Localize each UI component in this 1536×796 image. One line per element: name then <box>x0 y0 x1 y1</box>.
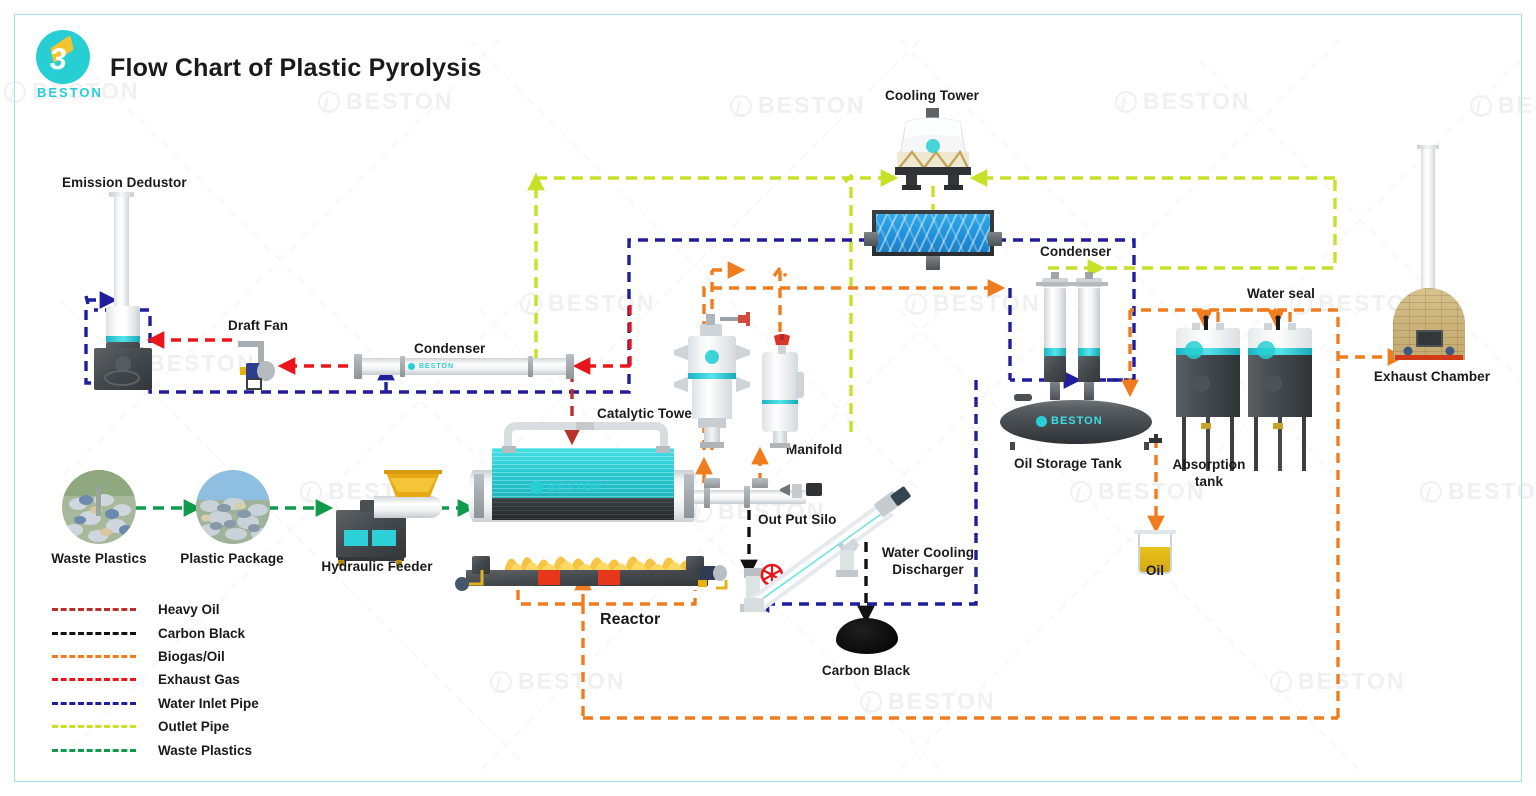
label-exhaust-chamber: Exhaust Chamber <box>1374 369 1490 384</box>
label-condenser-left: Condenser <box>414 341 485 356</box>
legend-item: Outlet Pipe <box>52 715 259 738</box>
condenser-column-2-head <box>1070 272 1108 290</box>
reactor-flames <box>500 532 700 574</box>
exhaust-chamber-stack <box>1421 148 1435 292</box>
exhaust-chamber-stack-cap <box>1417 145 1439 149</box>
legend: Heavy Oil Carbon Black Biogas/Oil Exhaus… <box>52 598 259 762</box>
legend-label: Outlet Pipe <box>158 719 229 734</box>
oil-beaker-rim <box>1134 530 1176 534</box>
cooling-tower <box>884 108 982 188</box>
out-put-silo-nozzle-1 <box>704 478 720 488</box>
label-draft-fan: Draft Fan <box>228 318 288 333</box>
reactor-flange-right <box>684 474 694 518</box>
legend-label: Water Inlet Pipe <box>158 696 259 711</box>
flow-chart-canvas: BESTON BESTON BESTON BESTON BESTON BESTO… <box>0 0 1536 796</box>
label-condenser-right: Condenser <box>1040 244 1111 259</box>
logo-brand: BESTON <box>37 85 103 100</box>
absorption-tank-2-logo <box>1257 341 1275 359</box>
label-hydraulic-feeder: Hydraulic Feeder <box>321 559 432 574</box>
condenser-column-2-bottom <box>1078 356 1100 382</box>
legend-item: Exhaust Gas <box>52 668 259 691</box>
condenser-left-flange-out <box>566 354 574 379</box>
legend-item: Water Inlet Pipe <box>52 692 259 715</box>
legend-label: Heavy Oil <box>158 602 220 617</box>
legend-item: Carbon Black <box>52 621 259 644</box>
emission-dedustor-base-detail <box>96 352 150 388</box>
water-pool-valve-bottom <box>926 256 940 270</box>
legend-swatch-carbon-black <box>52 632 136 635</box>
reactor-logo: BESTON <box>530 480 603 494</box>
plastic-package-image <box>196 470 270 544</box>
legend-swatch-water-inlet-pipe <box>52 702 136 705</box>
reactor-flange-left <box>474 474 484 518</box>
emission-dedustor-stack <box>114 196 129 316</box>
oil-storage-tank-fittings <box>996 394 1166 450</box>
condenser-left-rib <box>400 356 405 377</box>
water-pool-valve-left <box>864 232 878 246</box>
carbon-black-pile <box>836 618 898 654</box>
legend-swatch-biogas-oil <box>52 655 136 658</box>
legend-label: Biogas/Oil <box>158 649 225 664</box>
water-pool-surface <box>876 214 990 252</box>
draft-fan <box>236 335 280 391</box>
condenser-left-logo: BESTON <box>408 363 454 370</box>
legend-label: Exhaust Gas <box>158 672 240 687</box>
legend-item: Waste Plastics <box>52 738 259 761</box>
hydraulic-feeder-hopper <box>384 470 442 500</box>
legend-item: Heavy Oil <box>52 598 259 621</box>
label-oil: Oil <box>1146 563 1164 578</box>
waste-plastics-image <box>62 470 136 544</box>
condenser-column-1-bottom <box>1044 356 1066 382</box>
label-plastic-package: Plastic Package <box>180 551 284 566</box>
page-title: Flow Chart of Plastic Pyrolysis <box>110 54 482 83</box>
label-oil-storage-tank: Oil Storage Tank <box>1014 456 1122 471</box>
label-manifold: Manifold <box>786 442 842 457</box>
beston-logo: 3 BESTON <box>36 30 94 102</box>
emission-dedustor-stack-cap <box>109 192 134 197</box>
condenser-column-1-head <box>1036 272 1074 290</box>
water-pool-valve-right <box>988 232 1002 246</box>
reactor-feed-line-left <box>452 564 522 594</box>
reactor-burner-2 <box>598 570 620 585</box>
legend-item: Biogas/Oil <box>52 645 259 668</box>
condenser-left-rib <box>528 356 533 377</box>
legend-swatch-heavy-oil <box>52 608 136 611</box>
label-carbon-black: Carbon Black <box>822 663 910 678</box>
out-put-silo-flange-1 <box>704 486 710 508</box>
label-water-seal: Water seal <box>1247 286 1315 301</box>
legend-swatch-exhaust-gas <box>52 678 136 681</box>
label-absorption-tank: Absorption tank <box>1163 457 1255 491</box>
label-catalytic-tower: Catalytic Tower <box>597 406 697 421</box>
legend-swatch-outlet-pipe <box>52 725 136 728</box>
reactor-insulation <box>492 498 674 520</box>
label-water-cooling-discharger: Water Cooling Discharger <box>874 545 982 579</box>
water-pool <box>872 210 994 256</box>
legend-label: Carbon Black <box>158 626 245 641</box>
logo-z: 3 <box>48 45 68 75</box>
legend-label: Waste Plastics <box>158 743 252 758</box>
label-reactor: Reactor <box>600 611 660 629</box>
label-emission-dedustor: Emission Dedustor <box>62 175 187 190</box>
label-waste-plastics: Waste Plastics <box>51 551 146 566</box>
emission-dedustor-upper <box>106 306 140 340</box>
exhaust-chamber-door <box>1393 330 1465 362</box>
label-cooling-tower: Cooling Tower <box>885 88 979 103</box>
condenser-left-flange-in <box>354 354 362 379</box>
condenser-left-body <box>358 358 570 375</box>
reactor-burner-1 <box>538 570 560 585</box>
out-put-silo-nozzle-2 <box>752 478 768 488</box>
reactor-top-piping <box>488 422 684 454</box>
absorption-tank-1-logo <box>1185 341 1203 359</box>
legend-swatch-waste-plastics <box>52 749 136 752</box>
